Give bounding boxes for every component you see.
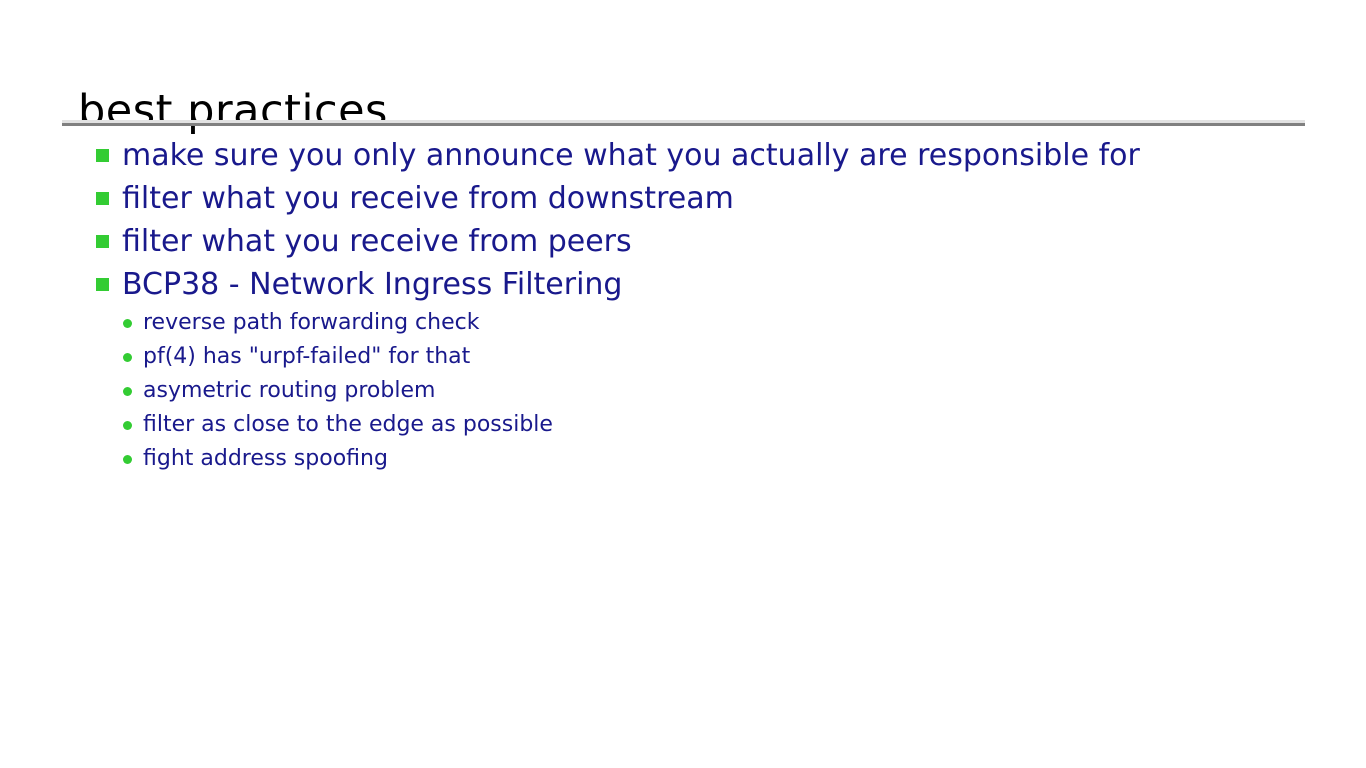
list-item: filter what you receive from peers <box>0 220 1366 263</box>
list-item: fight address spoofing <box>0 442 1366 476</box>
round-bullet-icon <box>123 421 132 430</box>
list-item: BCP38 - Network Ingress Filtering <box>0 263 1366 306</box>
sub-bullet-label: filter as close to the edge as possible <box>143 408 553 442</box>
slide-body: make sure you only announce what you act… <box>0 134 1366 476</box>
list-item: make sure you only announce what you act… <box>0 134 1366 177</box>
round-bullet-icon <box>123 455 132 464</box>
bullet-label: filter what you receive from peers <box>122 220 632 263</box>
square-bullet-icon <box>96 235 109 248</box>
square-bullet-icon <box>96 278 109 291</box>
sub-bullet-label: asymetric routing problem <box>143 374 435 408</box>
sub-level-bullet-list: reverse path forwarding check pf(4) has … <box>0 306 1366 476</box>
round-bullet-icon <box>123 353 132 362</box>
divider-shadow-line <box>62 123 1305 126</box>
square-bullet-icon <box>96 149 109 162</box>
page-title: best practices <box>78 89 388 134</box>
sub-bullet-label: pf(4) has "urpf-failed" for that <box>143 340 470 374</box>
list-item: filter what you receive from downstream <box>0 177 1366 220</box>
list-item: asymetric routing problem <box>0 374 1366 408</box>
bullet-label: BCP38 - Network Ingress Filtering <box>122 263 622 306</box>
round-bullet-icon <box>123 387 132 396</box>
presentation-slide: best practices make sure you only announ… <box>0 0 1366 768</box>
square-bullet-icon <box>96 192 109 205</box>
sub-bullet-label: fight address spoofing <box>143 442 388 476</box>
list-item: pf(4) has "urpf-failed" for that <box>0 340 1366 374</box>
bullet-label: filter what you receive from downstream <box>122 177 734 220</box>
bullet-label: make sure you only announce what you act… <box>122 134 1140 177</box>
top-level-bullet-list: make sure you only announce what you act… <box>0 134 1366 306</box>
round-bullet-icon <box>123 319 132 328</box>
title-divider <box>62 120 1305 126</box>
sub-bullet-label: reverse path forwarding check <box>143 306 479 340</box>
list-item: filter as close to the edge as possible <box>0 408 1366 442</box>
list-item: reverse path forwarding check <box>0 306 1366 340</box>
